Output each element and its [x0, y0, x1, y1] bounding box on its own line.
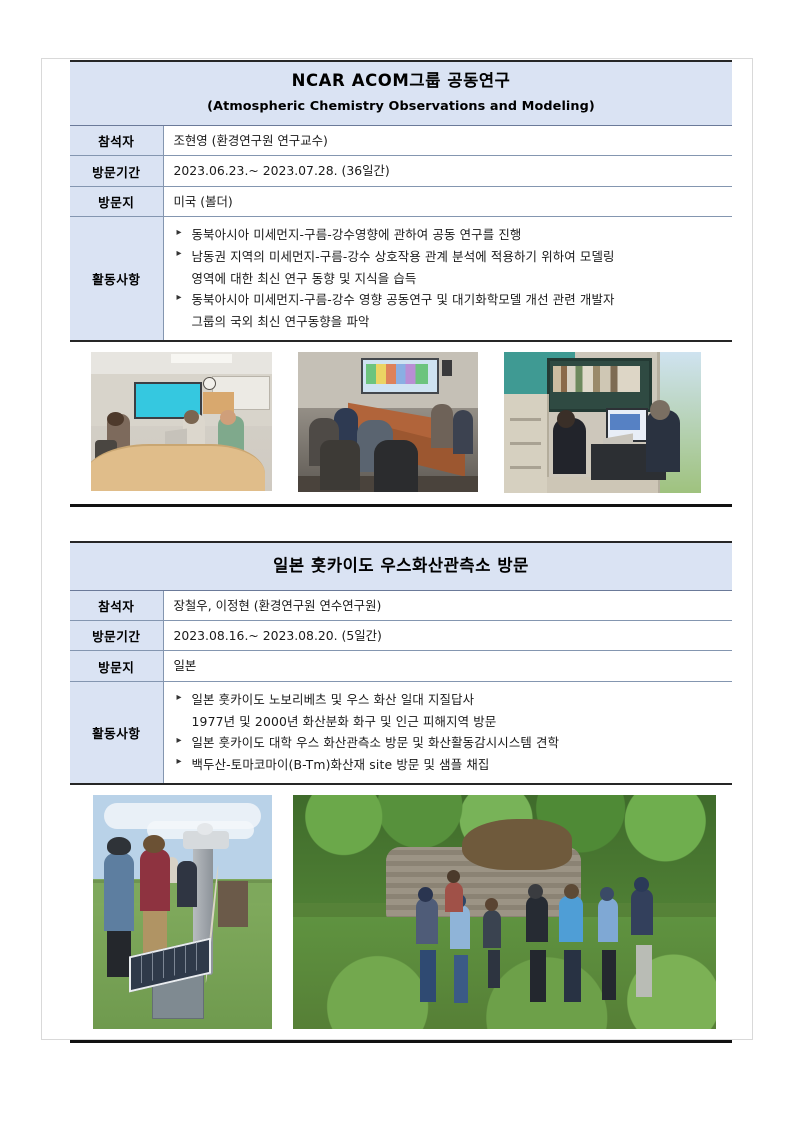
activity-list: 동북아시아 미세먼지-구름-강수영향에 관하여 공동 연구를 진행 남동권 지역… — [174, 222, 729, 335]
activity-item-continuation: 1977년 및 2000년 화산분화 화구 및 인근 피해지역 방문 — [176, 712, 729, 732]
activity-item: 일본 훗카이도 노보리베츠 및 우스 화산 일대 지질답사 — [176, 690, 729, 710]
row-value-activity: 일본 훗카이도 노보리베츠 및 우스 화산 일대 지질답사 1977년 및 20… — [163, 681, 732, 784]
photo-seminar-room-presentation — [298, 352, 478, 492]
photo-strip-ncar-acom — [70, 352, 732, 493]
report-table-hokkaido-usu: 일본 훗카이도 우스화산관측소 방문 참석자 장철우, 이정현 (환경연구원 연… — [70, 541, 732, 786]
table-header-row: NCAR ACOM그룹 공동연구 (Atmospheric Chemistry … — [70, 61, 732, 126]
activity-item-continuation: 그룹의 국외 최신 연구동향을 파악 — [176, 312, 729, 332]
activity-item: 동북아시아 미세먼지-구름-강수 영향 공동연구 및 대기화학모델 개선 관련 … — [176, 290, 729, 310]
table-row: 방문기간 2023.08.16.~ 2023.08.20. (5일간) — [70, 621, 732, 651]
table-row-activity: 활동사항 동북아시아 미세먼지-구름-강수영향에 관하여 공동 연구를 진행 남… — [70, 216, 732, 341]
row-value-destination: 일본 — [163, 651, 732, 681]
row-label-destination: 방문지 — [70, 186, 163, 216]
table-row: 방문지 일본 — [70, 651, 732, 681]
activity-item: 동북아시아 미세먼지-구름-강수영향에 관하여 공동 연구를 진행 — [176, 225, 729, 245]
row-label-destination: 방문지 — [70, 651, 163, 681]
section-header-cell: 일본 훗카이도 우스화산관측소 방문 — [70, 542, 732, 591]
table-row: 방문지 미국 (볼더) — [70, 186, 732, 216]
activity-list: 일본 훗카이도 노보리베츠 및 우스 화산 일대 지질답사 1977년 및 20… — [174, 687, 729, 779]
table-row: 방문기간 2023.06.23.~ 2023.07.28. (36일간) — [70, 156, 732, 186]
row-value-activity: 동북아시아 미세먼지-구름-강수영향에 관하여 공동 연구를 진행 남동권 지역… — [163, 216, 732, 341]
row-label-period: 방문기간 — [70, 621, 163, 651]
row-label-activity: 활동사항 — [70, 216, 163, 341]
section-gap — [70, 507, 732, 541]
photo-strip-hokkaido-usu — [70, 795, 732, 1029]
photo-office-desk-discussion — [504, 352, 701, 493]
document-content: NCAR ACOM그룹 공동연구 (Atmospheric Chemistry … — [70, 60, 732, 1043]
row-value-period: 2023.06.23.~ 2023.07.28. (36일간) — [163, 156, 732, 186]
row-label-attendee: 참석자 — [70, 590, 163, 620]
section-title: NCAR ACOM그룹 공동연구 — [74, 70, 728, 92]
activity-item: 일본 훗카이도 대학 우스 화산관측소 방문 및 화산활동감시시스템 견학 — [176, 733, 729, 753]
section-divider-rule — [70, 504, 732, 506]
report-table-ncar-acom: NCAR ACOM그룹 공동연구 (Atmospheric Chemistry … — [70, 60, 732, 342]
photo-field-solar-powered-monitoring-station — [93, 795, 272, 1029]
photo-meeting-room-conference-table — [91, 352, 272, 491]
section-divider-rule — [70, 1040, 732, 1042]
photo-group-at-tephra-outcrop — [293, 795, 716, 1029]
section-hokkaido-usu: 일본 훗카이도 우스화산관측소 방문 참석자 장철우, 이정현 (환경연구원 연… — [70, 541, 732, 1043]
activity-item: 백두산-토마코마이(B-Tm)화산재 site 방문 및 샘플 채집 — [176, 755, 729, 775]
section-header-cell: NCAR ACOM그룹 공동연구 (Atmospheric Chemistry … — [70, 61, 732, 126]
row-label-period: 방문기간 — [70, 156, 163, 186]
activity-item-continuation: 영역에 대한 최신 연구 동향 및 지식을 습득 — [176, 269, 729, 289]
section-ncar-acom: NCAR ACOM그룹 공동연구 (Atmospheric Chemistry … — [70, 60, 732, 507]
row-label-attendee: 참석자 — [70, 126, 163, 156]
section-subtitle: (Atmospheric Chemistry Observations and … — [74, 98, 728, 116]
table-header-row: 일본 훗카이도 우스화산관측소 방문 — [70, 542, 732, 591]
activity-item: 남동권 지역의 미세먼지-구름-강수 상호작용 관계 분석에 적용하기 위하여 … — [176, 247, 729, 267]
table-row: 참석자 조현영 (환경연구원 연구교수) — [70, 126, 732, 156]
section-title: 일본 훗카이도 우스화산관측소 방문 — [74, 555, 728, 577]
row-value-period: 2023.08.16.~ 2023.08.20. (5일간) — [163, 621, 732, 651]
table-row: 참석자 장철우, 이정현 (환경연구원 연수연구원) — [70, 590, 732, 620]
row-value-attendee: 조현영 (환경연구원 연구교수) — [163, 126, 732, 156]
table-row-activity: 활동사항 일본 훗카이도 노보리베츠 및 우스 화산 일대 지질답사 1977년… — [70, 681, 732, 784]
row-value-attendee: 장철우, 이정현 (환경연구원 연수연구원) — [163, 590, 732, 620]
row-label-activity: 활동사항 — [70, 681, 163, 784]
row-value-destination: 미국 (볼더) — [163, 186, 732, 216]
